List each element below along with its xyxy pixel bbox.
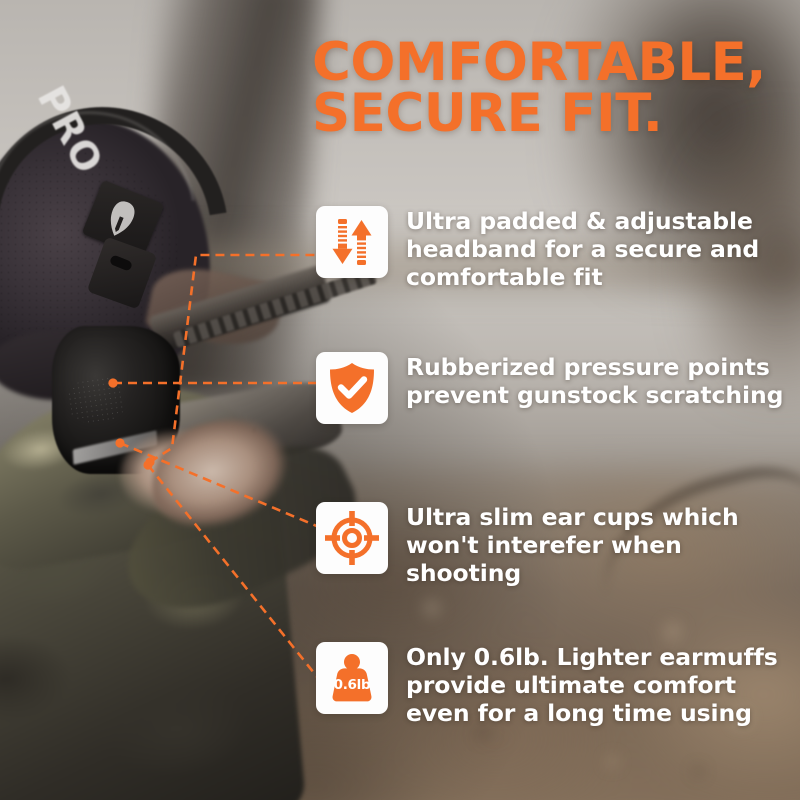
- feature-text: Ultra slim ear cups which won't interefe…: [406, 502, 800, 588]
- headline-line-2: SECURE FIT.: [312, 89, 782, 140]
- product-infographic: PRO COMFORTABLE, SECURE FIT.: [0, 0, 800, 800]
- feature-item-weight: 0.6lb Only 0.6lb. Lighter earmuffs provi…: [316, 642, 800, 728]
- feature-text: Ultra padded & adjustable headband for a…: [406, 206, 800, 292]
- page-title: COMFORTABLE, SECURE FIT.: [312, 38, 782, 140]
- feature-item-slim-earcups: Ultra slim ear cups which won't interefe…: [316, 502, 800, 588]
- weight-badge-label: 0.6lb: [324, 677, 380, 693]
- weight-icon-wrap: 0.6lb: [324, 650, 380, 706]
- feature-icon-card: [316, 352, 388, 424]
- up-down-adjust-arrows-icon: [324, 214, 380, 270]
- shooter-photo-subject: PRO: [0, 0, 350, 800]
- crosshair-target-icon: [324, 510, 380, 566]
- shield-check-icon: [326, 361, 378, 415]
- feature-icon-card: [316, 502, 388, 574]
- feature-icon-card: [316, 206, 388, 278]
- feature-item-pressure-points: Rubberized pressure points prevent gunst…: [316, 352, 800, 424]
- feature-icon-card: 0.6lb: [316, 642, 388, 714]
- feature-text: Rubberized pressure points prevent gunst…: [406, 352, 800, 409]
- feature-text: Only 0.6lb. Lighter earmuffs provide ult…: [406, 642, 800, 728]
- feature-item-headband: Ultra padded & adjustable headband for a…: [316, 206, 800, 292]
